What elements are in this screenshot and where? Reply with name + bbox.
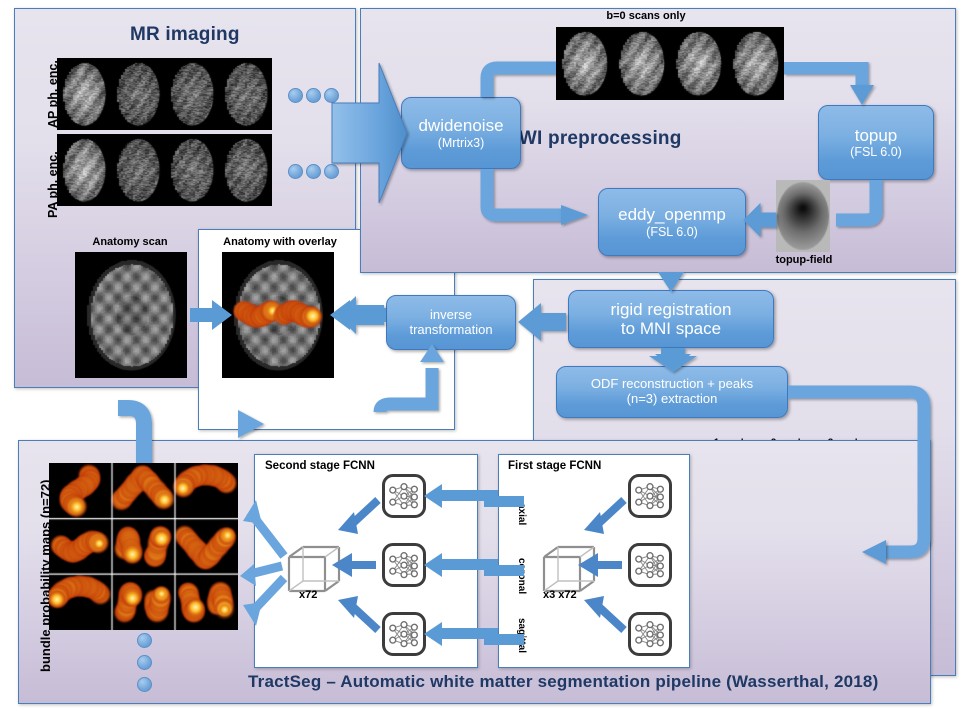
- second-stage-cube-label: x72: [299, 589, 317, 601]
- fcnn-icon-first-stage-axial[interactable]: [628, 474, 672, 518]
- first-stage-cube-label: x3 x72: [543, 589, 577, 601]
- bundle-ellipsis-dot: [137, 633, 152, 648]
- mr-ellipsis-dot: [324, 164, 339, 179]
- fcnn-icon-second-stage-sagittal[interactable]: [382, 612, 426, 656]
- bundle-probability-maps-grid: [49, 463, 238, 630]
- process-box-topup[interactable]: topup (FSL 6.0): [818, 105, 934, 180]
- anatomy-scan-image: [75, 252, 187, 378]
- mr-ellipsis-dot: [306, 164, 321, 179]
- b0-scans-image: [556, 27, 784, 100]
- panel-mr-imaging-title: MR imaging: [130, 24, 240, 46]
- odf-line2: (n=3) extraction: [627, 392, 718, 407]
- fcnn-icon-second-stage-coronal[interactable]: [382, 543, 426, 587]
- mr-pa-scan-strip: [57, 134, 272, 206]
- mr-ellipsis-dot: [306, 88, 321, 103]
- mr-ap-scan-strip: [57, 58, 272, 130]
- dwidenoise-title: dwidenoise: [418, 116, 503, 135]
- topup-field-label: topup-field: [770, 254, 838, 266]
- process-box-eddy-openmp[interactable]: eddy_openmp (FSL 6.0): [598, 188, 746, 256]
- inverse-line1: inverse: [430, 308, 472, 323]
- second-stage-fcnn-title: Second stage FCNN: [265, 460, 375, 472]
- process-box-odf-reconstruction[interactable]: ODF reconstruction + peaks (n=3) extract…: [556, 366, 788, 418]
- panel-dwi-title: DWI preprocessing: [505, 128, 682, 150]
- fcnn-icon-first-stage-sagittal[interactable]: [628, 612, 672, 656]
- bundle-ellipsis-dot: [137, 677, 152, 692]
- mr-ellipsis-dot: [324, 88, 339, 103]
- fcnn-icon-first-stage-coronal[interactable]: [628, 543, 672, 587]
- rigid-registration-line1: rigid registration: [611, 300, 732, 319]
- dwidenoise-sub: (Mrtrix3): [438, 136, 485, 150]
- first-stage-input-axial: axial: [516, 503, 527, 525]
- process-box-inverse-transformation[interactable]: inverse transformation: [386, 295, 516, 350]
- anatomy-overlay-label: Anatomy with overlay: [204, 236, 356, 248]
- topup-title: topup: [855, 126, 898, 145]
- anatomy-scan-label: Anatomy scan: [70, 236, 190, 248]
- first-stage-input-sagittal: sagittal: [516, 618, 527, 653]
- odf-line1: ODF reconstruction + peaks: [591, 377, 753, 392]
- b0-scans-label: b=0 scans only: [561, 10, 731, 22]
- diagram-root: MR imaging AP ph. enc. PA ph. enc. Anato…: [0, 0, 960, 720]
- inverse-line2: transformation: [409, 323, 492, 338]
- panel-tractseg-title: TractSeg – Automatic white matter segmen…: [248, 672, 878, 692]
- first-stage-input-coronal: coronal: [516, 558, 527, 594]
- eddy-title: eddy_openmp: [618, 205, 726, 224]
- eddy-sub: (FSL 6.0): [646, 225, 698, 239]
- fcnn-icon-second-stage-axial[interactable]: [382, 474, 426, 518]
- rigid-registration-line2: to MNI space: [621, 319, 721, 338]
- mr-ellipsis-dot: [288, 88, 303, 103]
- mr-ellipsis-dot: [288, 164, 303, 179]
- anatomy-overlay-image: [222, 252, 334, 378]
- process-box-rigid-registration[interactable]: rigid registration to MNI space: [568, 290, 774, 348]
- topup-field-image: [776, 180, 830, 252]
- topup-sub: (FSL 6.0): [850, 145, 902, 159]
- bundle-ellipsis-dot: [137, 655, 152, 670]
- first-stage-fcnn-title: First stage FCNN: [508, 460, 601, 472]
- process-box-dwidenoise[interactable]: dwidenoise (Mrtrix3): [401, 97, 521, 169]
